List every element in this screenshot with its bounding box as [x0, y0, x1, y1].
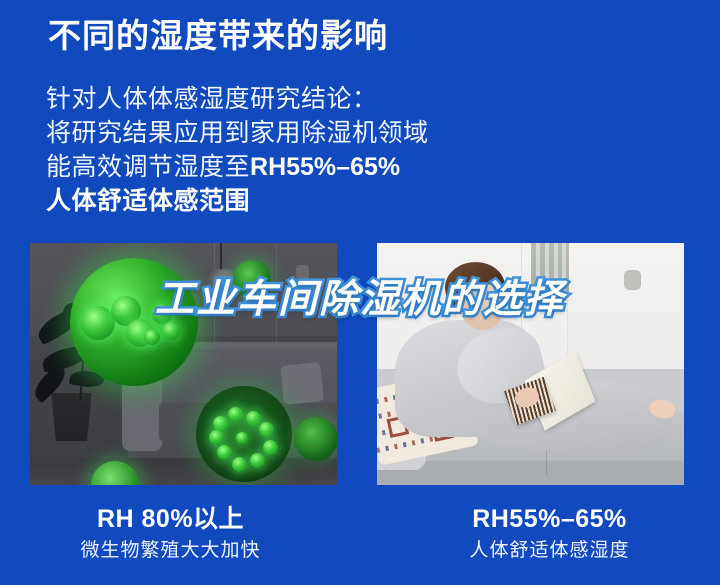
microbe-bud [228, 407, 243, 422]
microbe-icon [294, 417, 337, 461]
microbe-bud [232, 457, 247, 472]
microbe-bud [162, 322, 180, 340]
caption-right-value: RH55%–65% [379, 503, 720, 535]
microbe-bud [209, 430, 224, 445]
caption-left-description: 微生物繁殖大大加快 [0, 538, 341, 564]
dark-floor [30, 458, 337, 485]
overlay-banner-title: 工业车间除湿机的选择 [0, 268, 720, 324]
body-copy-block: 针对人体体感湿度研究结论： 将研究结果应用到家用除湿机领域 能高效调节湿度至RH… [46, 82, 466, 218]
microbe-bud [217, 445, 232, 460]
caption-right: RH55%–65% 人体舒适体感湿度 [359, 503, 720, 564]
humidity-infographic-poster: 不同的湿度带来的影响 针对人体体感湿度研究结论： 将研究结果应用到家用除湿机领域… [0, 0, 720, 585]
page-title: 不同的湿度带来的影响 [48, 16, 388, 56]
dark-sofa-cushion [280, 362, 324, 405]
microbe-bud [236, 432, 248, 444]
caption-left: RH 80%以上 微生物繁殖大大加快 [0, 503, 359, 564]
microbe-bud [263, 440, 278, 455]
microbe-bud [259, 422, 274, 437]
plant-pot [48, 393, 94, 441]
microbe-bud [144, 329, 160, 345]
caption-right-description: 人体舒适体感湿度 [379, 538, 720, 564]
body-line-4: 人体舒适体感范围 [46, 184, 466, 218]
caption-row: RH 80%以上 微生物繁殖大大加快 RH55%–65% 人体舒适体感湿度 [0, 503, 720, 564]
body-line-2: 将研究结果应用到家用除湿机领域 [46, 116, 466, 150]
caption-left-value: RH 80%以上 [0, 503, 341, 535]
microbe-bud [246, 411, 261, 426]
body-line-1: 针对人体体感湿度研究结论： [46, 82, 466, 116]
humidity-range-value: RH55%–65% [250, 153, 400, 181]
microbe-icon [196, 386, 292, 482]
body-line-3: 能高效调节湿度至RH55%–65% [46, 150, 466, 184]
body-line-3-prefix: 能高效调节湿度至 [46, 153, 250, 181]
microbe-bud [250, 453, 265, 468]
